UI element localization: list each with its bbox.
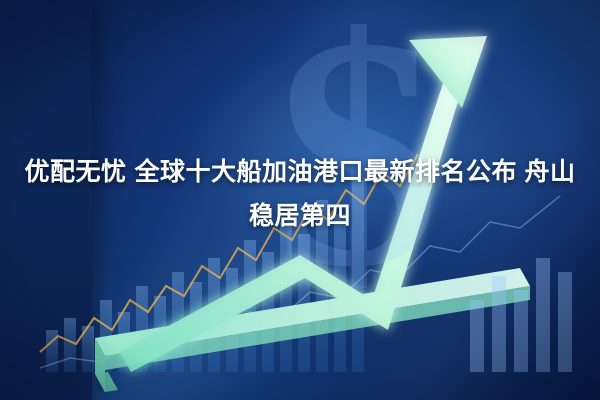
right-bars xyxy=(470,258,572,372)
white-trend-line xyxy=(40,196,560,368)
gold-trend-line xyxy=(40,154,418,352)
thumbnail-image: $ 优配无忧全球十大船加油港口最新排名公布 舟山 稳居第四 xyxy=(0,0,600,400)
dollar-sign-icon: $ xyxy=(243,8,473,298)
rising-arrow-icon xyxy=(120,36,487,372)
left-panel-gradient xyxy=(0,0,92,400)
background-bars xyxy=(46,180,364,372)
headline-line-1-text: 全球十大船加油港口最新排名公布 舟山 xyxy=(135,158,576,186)
mint-platform-bar xyxy=(95,268,530,392)
